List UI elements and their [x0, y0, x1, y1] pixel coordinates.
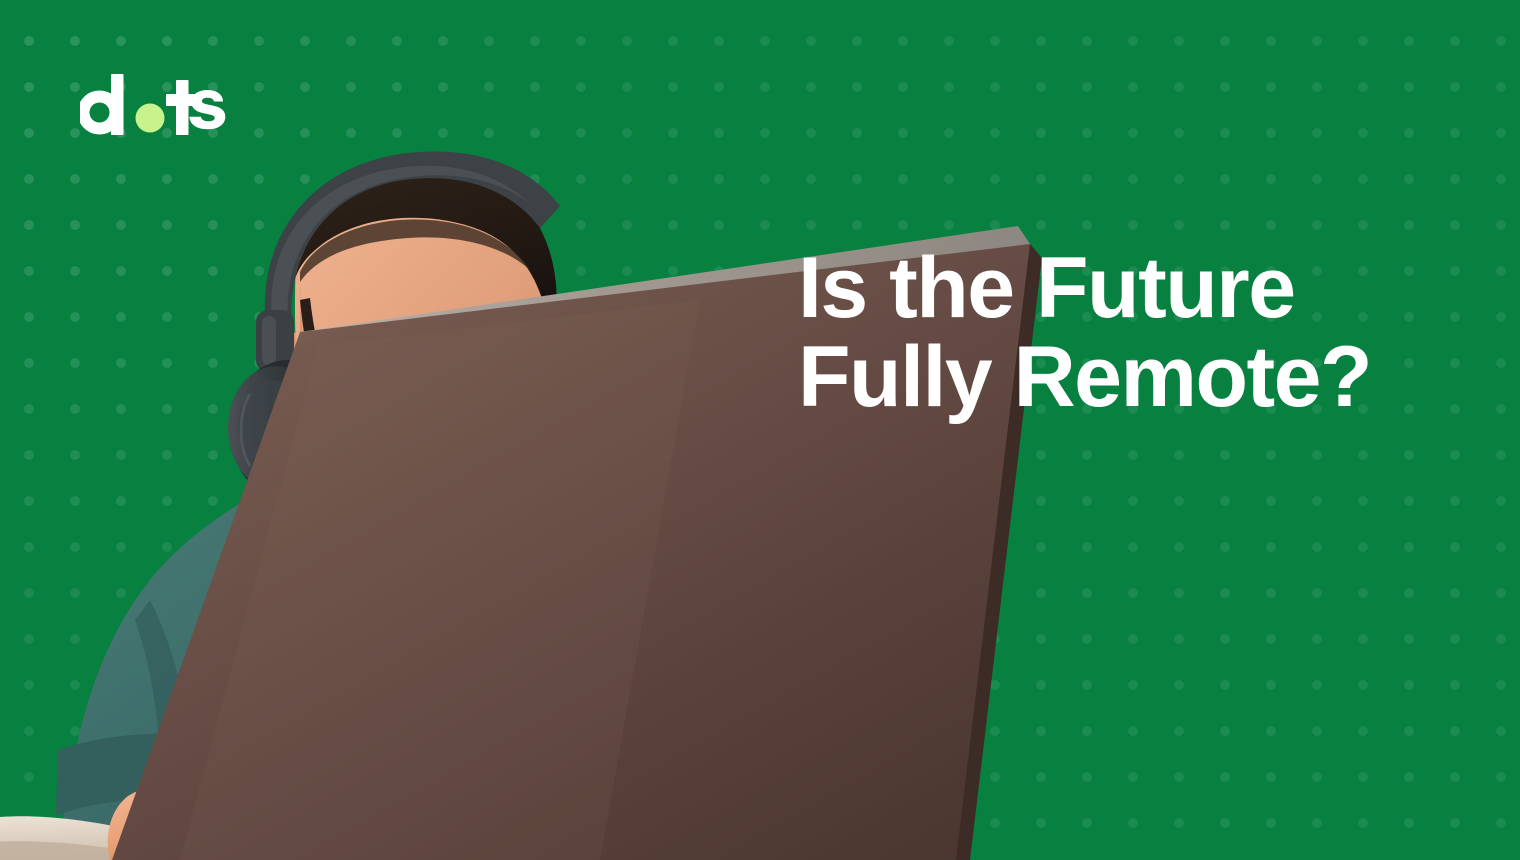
- headline-line-2: Fully Remote?: [798, 333, 1371, 422]
- photo-headphones: [228, 151, 560, 860]
- photo-neck: [330, 400, 500, 538]
- headline-line-1: Is the Future: [798, 244, 1371, 333]
- logo-letter-d: [80, 74, 124, 135]
- banner-root: Is the Future Fully Remote?: [0, 0, 1520, 860]
- logo-letter-s: [189, 90, 225, 129]
- photo-desk: [0, 816, 300, 860]
- photo-sweater: [58, 468, 805, 860]
- logo-accent-dot: [136, 104, 165, 133]
- photo-head: [267, 160, 556, 534]
- headline: Is the Future Fully Remote?: [798, 244, 1371, 421]
- dots-logo[interactable]: [80, 74, 230, 136]
- photo-hands: [56, 734, 600, 860]
